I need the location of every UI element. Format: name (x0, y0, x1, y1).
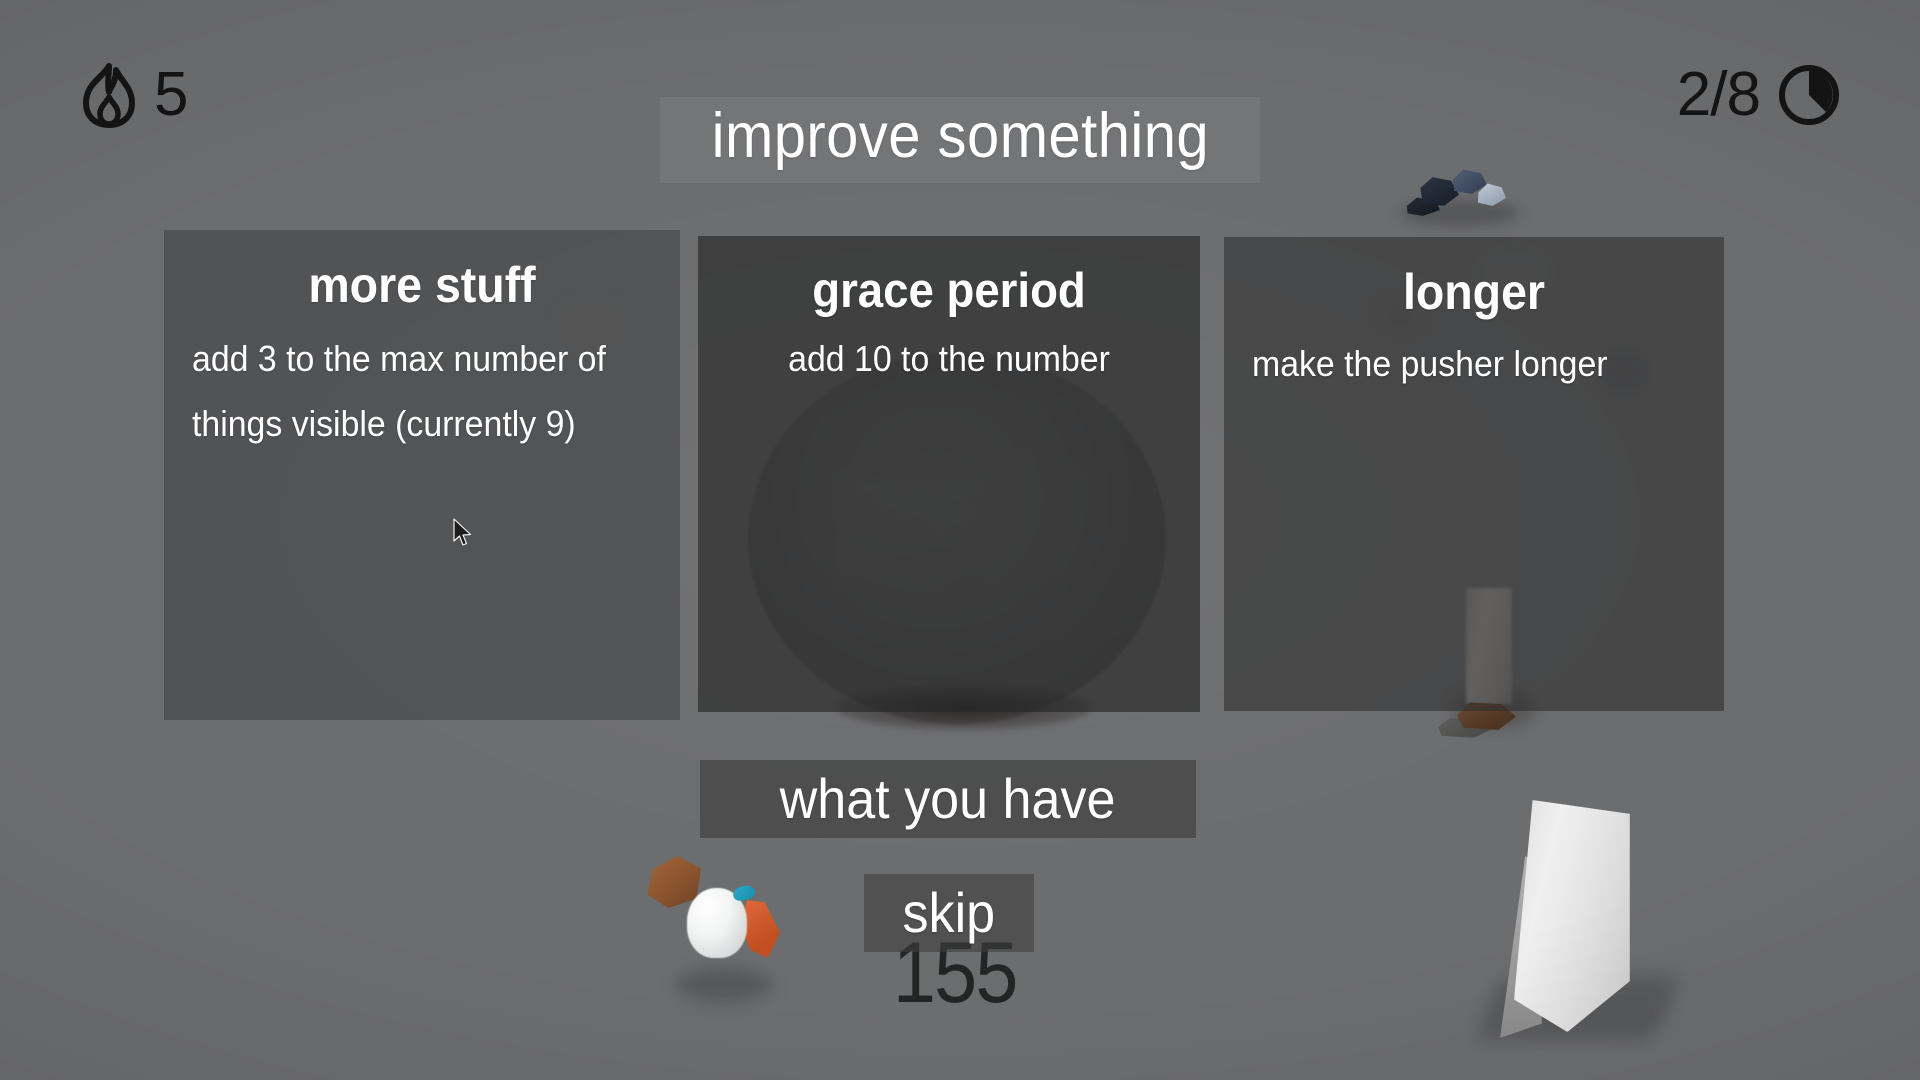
progress-value: 2/8 (1677, 64, 1760, 126)
upgrade-card-title: more stuff (208, 256, 636, 314)
upgrade-card-description: add 3 to the max number of things visibl… (192, 326, 624, 456)
skip-button-label: skip (903, 881, 996, 945)
flame-icon (78, 62, 140, 128)
streak-counter: 5 (78, 62, 187, 128)
upgrade-card-description: add 10 to the number (739, 326, 1158, 391)
upgrade-card-more-stuff[interactable]: more stuff add 3 to the max number of th… (164, 230, 680, 720)
progress-counter: 2/8 (1677, 62, 1842, 128)
upgrade-card-grace-period[interactable]: grace period add 10 to the number (698, 236, 1200, 712)
pie-clock-icon (1776, 62, 1842, 128)
keep-what-you-have-button[interactable]: what you have (700, 760, 1196, 838)
upgrade-card-title: grace period (742, 262, 1157, 320)
skip-button[interactable]: skip (864, 874, 1034, 952)
hud: 5 2/8 (0, 0, 1920, 160)
player-shadow (676, 968, 772, 1002)
streak-value: 5 (154, 64, 187, 126)
player-beak (732, 884, 757, 903)
keep-button-label: what you have (780, 767, 1116, 831)
upgrade-card-description: make the pusher longer (1252, 331, 1669, 396)
upgrade-card-title: longer (1268, 263, 1681, 321)
upgrade-card-longer[interactable]: longer make the pusher longer (1224, 237, 1724, 711)
